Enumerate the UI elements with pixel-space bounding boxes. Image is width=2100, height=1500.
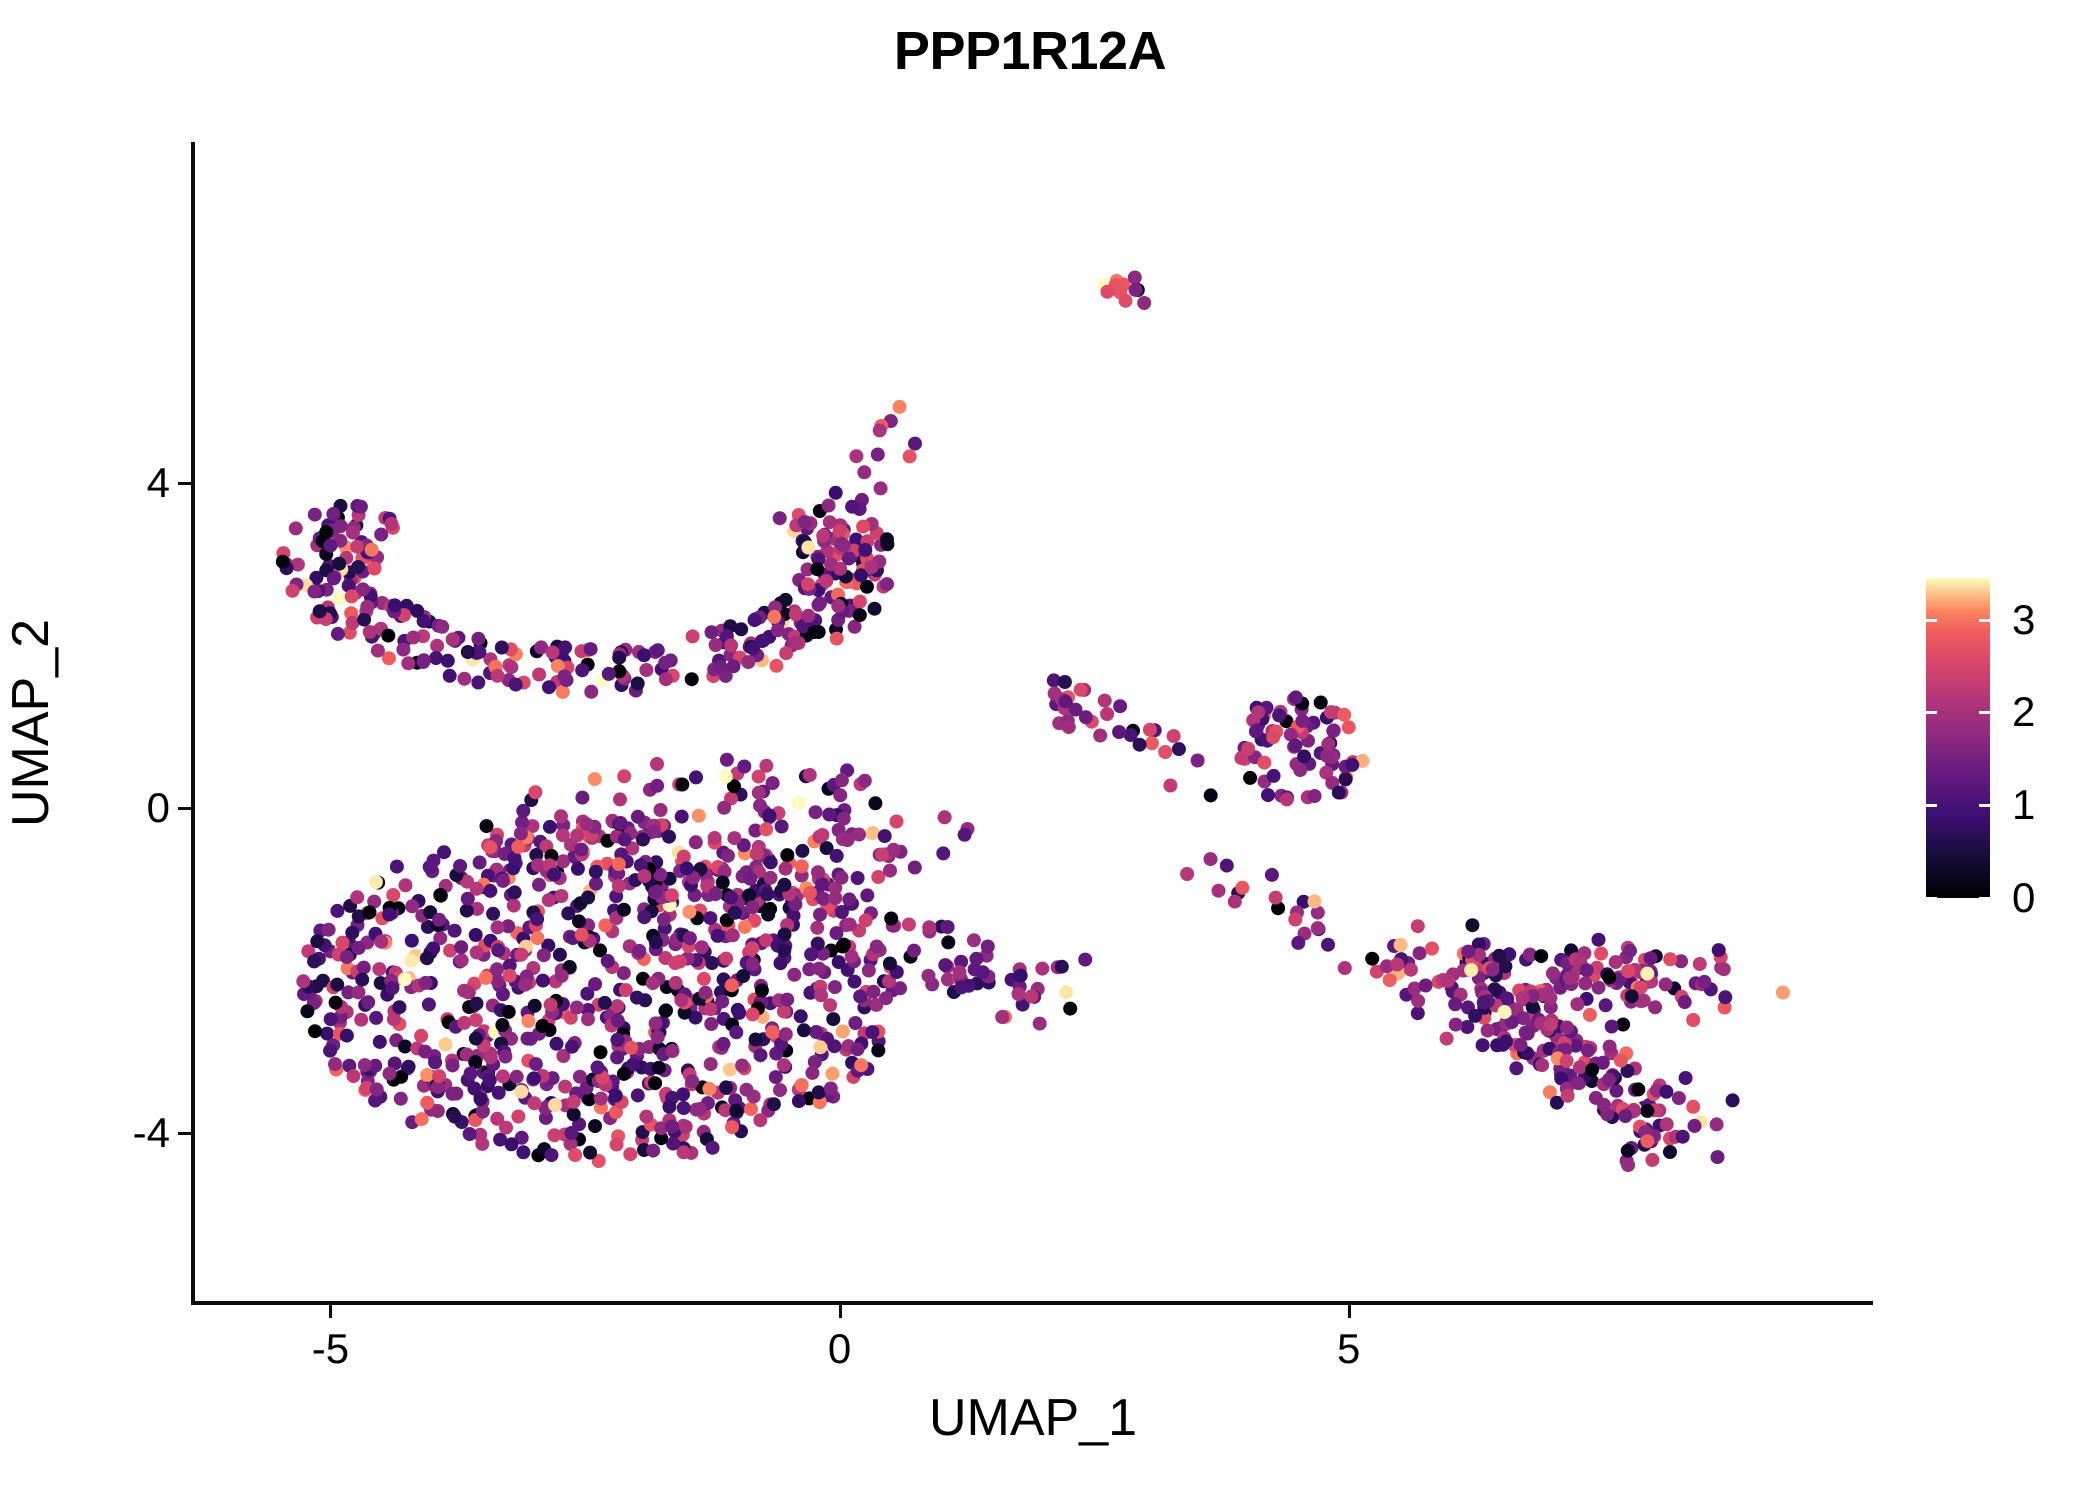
y-tick-mark [178,807,191,810]
colorbar-tick-mark [1979,619,1990,622]
colorbar-legend [1926,578,1990,898]
colorbar-gradient [1926,578,1990,898]
colorbar-tick-label: 2 [2012,688,2035,736]
colorbar-tick-mark [1926,711,1937,714]
x-axis-title: UMAP_1 [193,1388,1873,1448]
colorbar-tick-mark [1979,897,1990,900]
scatter-points-layer [193,142,1873,1304]
colorbar-tick-mark [1979,804,1990,807]
x-axis-line [191,1301,1873,1305]
colorbar-tick-mark [1926,619,1937,622]
colorbar-tick-label: 1 [2012,781,2035,829]
colorbar-tick-mark [1926,897,1937,900]
plot-title-text: PPP1R12A [894,21,1166,81]
y-axis-title-text: UMAP_2 [2,619,60,827]
plot-panel [193,142,1873,1304]
x-tick-label: 5 [1337,1325,1360,1373]
y-axis-line [191,142,195,1305]
y-tick-mark [178,482,191,485]
x-tick-mark [1348,1305,1351,1318]
page-title: PPP1R12A [0,20,2100,82]
x-tick-mark [329,1305,332,1318]
colorbar-tick-label: 0 [2012,874,2035,922]
x-tick-label: -5 [312,1325,349,1373]
chart-root: PPP1R12A -404 -505 UMAP_1 UMAP_2 0123 [0,0,2100,1500]
colorbar-tick-mark [1979,711,1990,714]
x-tick-mark [839,1305,842,1318]
y-axis-title: UMAP_2 [1,142,61,1304]
y-tick-mark [178,1132,191,1135]
colorbar-tick-label: 3 [2012,596,2035,644]
colorbar-tick-mark [1926,804,1937,807]
x-axis-title-text: UMAP_1 [929,1389,1137,1447]
x-tick-label: 0 [828,1325,851,1373]
